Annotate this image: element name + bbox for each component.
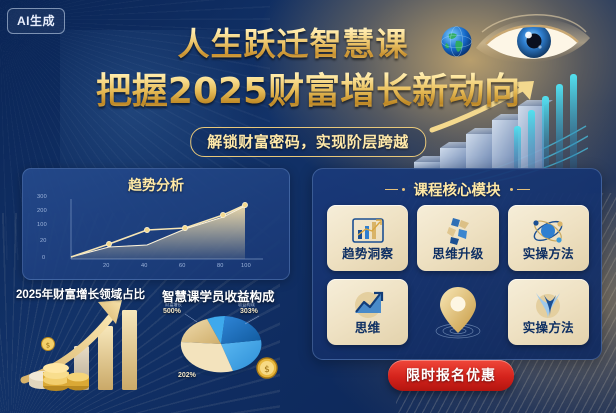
hero-title-line1: 人生跃迁智慧课 xyxy=(177,19,438,65)
earnings-pie-chart: $ 财富增长 500% 收益构成 303% 202% xyxy=(163,300,298,392)
module-card-location[interactable] xyxy=(417,279,498,345)
pie-label-202: 202% xyxy=(178,372,196,379)
pie-label-500: 500% xyxy=(163,308,181,315)
hero-subtitle-pill: 解锁财富密码，实现阶层跨越 xyxy=(190,127,426,157)
poster-canvas: AI生成 xyxy=(0,0,616,413)
trend-card-title: 趋势分析 xyxy=(23,175,289,195)
y-tick-100: 100 xyxy=(37,222,47,228)
module-label: 趋势洞察 xyxy=(342,248,393,261)
panel-title-text: 课程核心模块 xyxy=(414,179,501,200)
module-label: 思维 xyxy=(355,322,381,335)
trend-analysis-card: 趋势分析 xyxy=(22,168,290,280)
pie-label-303: 303% xyxy=(240,308,258,315)
cta-button[interactable]: 限时报名优惠 xyxy=(388,360,514,391)
x-tick-80: 80 xyxy=(217,263,224,269)
module-card-practice-method-2[interactable]: 实操方法 xyxy=(508,279,589,345)
core-modules-panel: 课程核心模块 趋势洞察 xyxy=(312,168,602,360)
hero-title-line2: 把握2025财富增长新动向 xyxy=(0,62,616,114)
checkmark-icon xyxy=(530,289,566,321)
module-label: 思维升级 xyxy=(432,248,483,261)
atom-icon xyxy=(530,215,566,247)
module-card-practice-method[interactable]: 实操方法 xyxy=(508,205,589,271)
svg-text:$: $ xyxy=(46,342,50,350)
gold-coins-bar-illustration: $ xyxy=(6,296,166,392)
puzzle-icon xyxy=(440,215,476,247)
module-card-thinking[interactable]: 思维 xyxy=(327,279,408,345)
panel-title-row: 课程核心模块 xyxy=(313,179,601,200)
x-tick-100: 100 xyxy=(241,263,251,269)
x-tick-20: 20 xyxy=(103,263,110,269)
x-tick-40: 40 xyxy=(141,263,148,269)
dash-dot-right-icon xyxy=(510,188,530,191)
modules-grid: 趋势洞察 思维升级 xyxy=(327,205,589,345)
map-pin-icon xyxy=(417,279,498,344)
module-card-trend-insight[interactable]: 趋势洞察 xyxy=(327,205,408,271)
ai-generated-badge: AI生成 xyxy=(7,8,65,34)
trend-line-chart: 300 200 100 20 0 20 40 60 80 100 xyxy=(37,195,281,275)
y-tick-20: 20 xyxy=(40,238,47,244)
module-label: 实操方法 xyxy=(523,248,574,261)
growth-arrow-icon xyxy=(350,289,386,321)
growth-label: 2025年财富增长领域占比 xyxy=(16,288,156,302)
globe-icon xyxy=(440,25,473,58)
bar-chart-icon xyxy=(350,215,386,247)
dash-dot-left-icon xyxy=(385,188,405,191)
pie-title: 智慧课学员收益构成 xyxy=(162,286,275,305)
hero-headline: 人生跃迁智慧课 把握2025财富增长新动向 xyxy=(0,0,616,114)
svg-text:$: $ xyxy=(264,365,270,375)
x-tick-60: 60 xyxy=(179,263,186,269)
y-tick-200: 200 xyxy=(37,208,47,214)
y-tick-0: 0 xyxy=(42,255,45,261)
module-label: 实操方法 xyxy=(523,322,574,335)
y-tick-300: 300 xyxy=(37,194,47,200)
module-card-mindset-upgrade[interactable]: 思维升级 xyxy=(417,205,498,271)
